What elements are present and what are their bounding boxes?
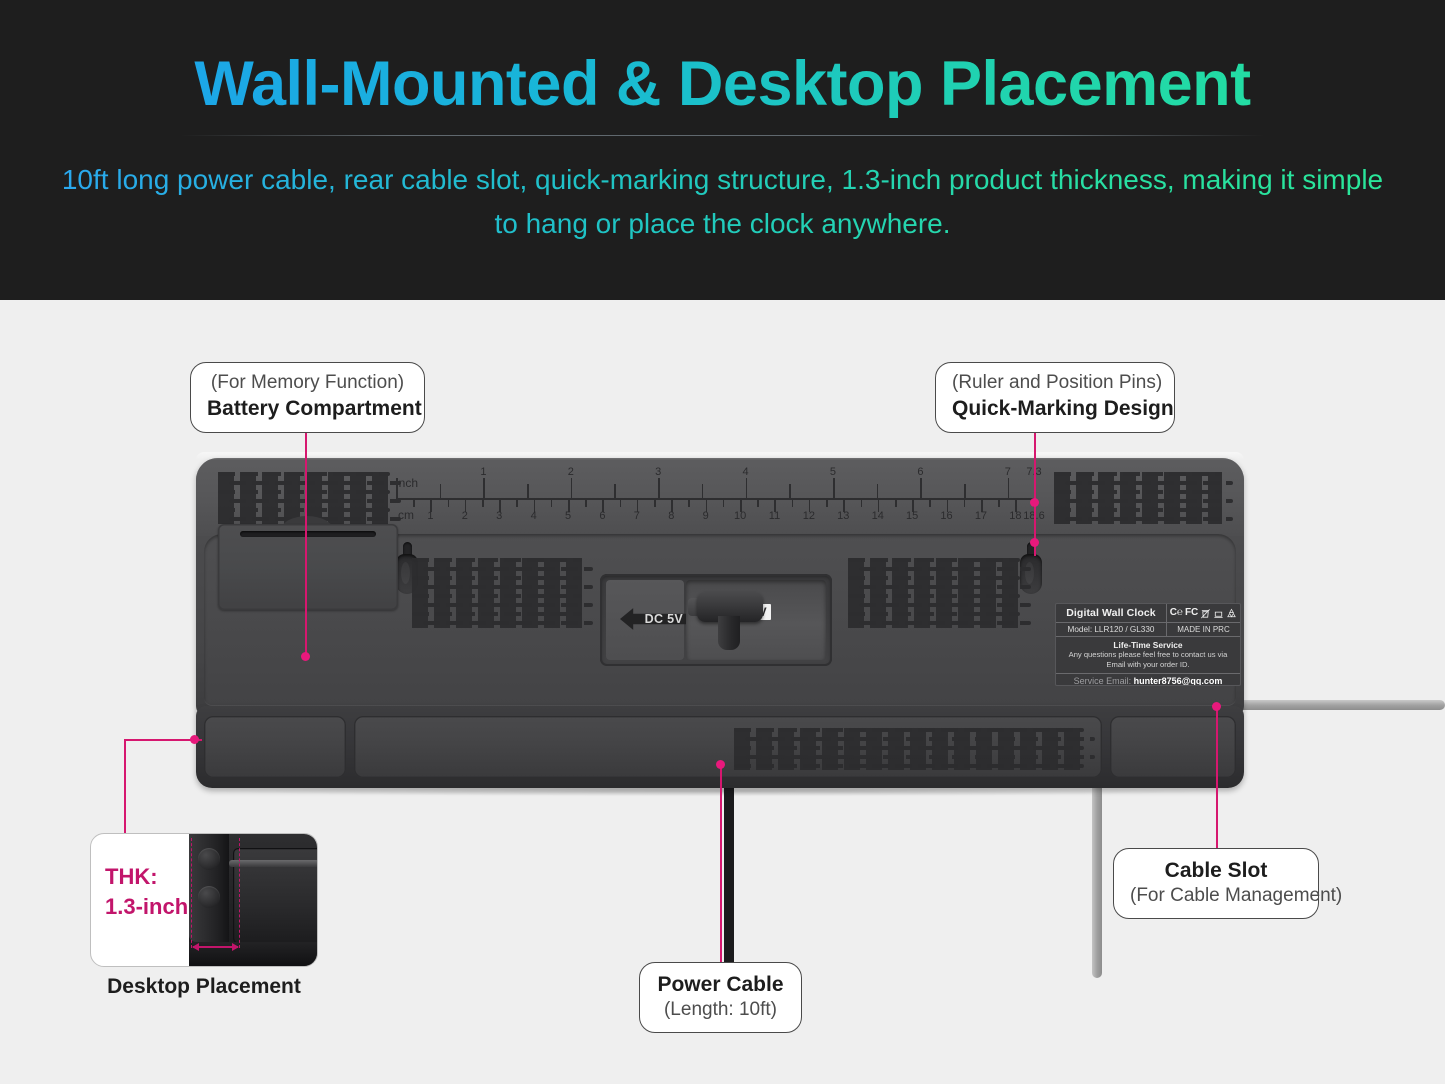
callout-battery-sub: (For Memory Function) (207, 371, 408, 395)
label-origin: MADE IN PRC (1166, 623, 1240, 636)
thickness-label-line2: 1.3-inch (105, 892, 188, 922)
ruler-zero-tick (396, 478, 398, 498)
device-top-lip (229, 860, 318, 867)
ruler-cm-label: 15 (906, 510, 918, 522)
ruler-cm-tick (482, 499, 484, 507)
ruler-cm-label: 11 (769, 510, 780, 522)
ruler-cm-tick (688, 499, 690, 507)
ruler-inch-tick (877, 484, 879, 498)
port-left-pad: DC 5V (606, 580, 684, 660)
ruler-cm-label: 10 (734, 510, 746, 522)
leader-dot-thickness (190, 735, 199, 744)
ruler-cm-label: 6 (599, 510, 605, 522)
ruler-cm-label: 12 (803, 510, 815, 522)
label-product-name: Digital Wall Clock (1056, 604, 1166, 622)
ruler-inch-tick-major (833, 478, 835, 498)
side-button-top (198, 848, 220, 870)
leader-power-cable (720, 764, 722, 962)
ruler-inch-tick-major (483, 478, 485, 498)
ruler-cm-label: 13 (837, 510, 849, 522)
ruler-inch-label: 3 (655, 466, 661, 478)
ruler-inch-tick (702, 484, 704, 498)
leader-battery (305, 426, 307, 658)
ruler-unit-inch: inch (396, 476, 418, 490)
ruler-inch-tick (614, 484, 616, 498)
product-info-label: Digital Wall Clock C℮ FC (1055, 603, 1241, 686)
callout-quickmark-sub: (Ruler and Position Pins) (952, 371, 1158, 395)
ruler-inch-tick-major (920, 478, 922, 498)
leader-cable-slot (1216, 706, 1218, 848)
label-row-title: Digital Wall Clock C℮ FC (1056, 604, 1240, 623)
callout-powercable-sub: (Length: 10ft) (656, 998, 785, 1022)
desktop-placement-caption: Desktop Placement (90, 975, 318, 999)
ruler-cm-label: 5 (565, 510, 571, 522)
ruler-cm-tick (585, 499, 587, 507)
ruler-inch-tick-major (746, 478, 748, 498)
rear-cable-horizontal (1236, 700, 1445, 710)
ruler-inch-tick-major (571, 478, 573, 498)
ruler-cm-tick (964, 499, 966, 507)
ruler-cm-tick (861, 499, 863, 507)
weee-crossed-bin-icon (1200, 608, 1211, 619)
thickness-value: THK: 1.3-inch (105, 862, 188, 922)
dimension-arrow (193, 946, 238, 948)
battery-compartment-door[interactable] (218, 524, 398, 610)
plug-neck (718, 616, 740, 650)
dc-5v-text: DC 5V (645, 612, 683, 626)
thickness-label-line1: THK: (105, 862, 188, 892)
dimension-line-left (191, 838, 192, 948)
page-title: Wall-Mounted & Desktop Placement (0, 48, 1445, 120)
ruler-unit-cm: cm (398, 508, 414, 522)
ruler-inch-tick (964, 484, 966, 498)
ruler-cm-label: 9 (703, 510, 709, 522)
leader-thickness (124, 739, 126, 835)
callout-cableslot-sub: (For Cable Management) (1130, 884, 1302, 908)
title-divider (180, 135, 1265, 136)
callout-battery-compartment: (For Memory Function) Battery Compartmen… (190, 362, 425, 433)
ce-icon: C℮ (1170, 608, 1183, 618)
label-row-service: Life-Time Service Any questions please f… (1056, 637, 1240, 674)
ruler-cm-tick (448, 499, 450, 507)
ruler-inch-tick (527, 484, 529, 498)
ruler-inch-label: 4 (743, 466, 749, 478)
base-segment-left (204, 716, 346, 778)
speaker-grille-mid-left (412, 558, 582, 628)
ruler-cm-label: 8 (668, 510, 674, 522)
ruler-inch-tick (440, 484, 442, 498)
header-banner: Wall-Mounted & Desktop Placement 10ft lo… (0, 0, 1445, 300)
ruler-cm-tick (757, 499, 759, 507)
ruler-inch-tick-major (658, 478, 660, 498)
label-email-key: Service Email: (1074, 676, 1132, 686)
ruler-cm-label: 16 (940, 510, 952, 522)
ruler-cm-label: 2 (462, 510, 468, 522)
base-segment-center (354, 716, 1102, 778)
ruler-cm-tick (895, 499, 897, 507)
ruler-cm-tick (551, 499, 553, 507)
dc-power-port-recess: DC 5V 5V (600, 574, 832, 666)
label-service-text: Any questions please feel free to contac… (1056, 650, 1240, 673)
recycle-icon (1226, 608, 1237, 619)
ruler-inch-label: 5 (830, 466, 836, 478)
speaker-grille-base (734, 728, 1084, 770)
leader-dot-quickmark-ruler (1030, 498, 1039, 507)
leader-dot-quickmark-pin (1030, 538, 1039, 547)
ruler-cm-tick (723, 499, 725, 507)
ruler-axis (396, 498, 1036, 500)
speaker-grille-mid-right (848, 558, 1020, 628)
rohs-icon (1213, 608, 1224, 619)
ruler-inch-label: 7 (1005, 466, 1011, 478)
ruler-inch-label: 6 (917, 466, 923, 478)
thickness-inset-card: THK: 1.3-inch (90, 833, 318, 967)
callout-cableslot-title: Cable Slot (1130, 857, 1302, 884)
ruler-cm-tick (620, 499, 622, 507)
ruler-cm-label: 14 (872, 510, 884, 522)
callout-quickmark-title: Quick-Marking Design (952, 395, 1158, 422)
label-model-number: Model: LLR120 / GL330 (1056, 623, 1166, 636)
keyhole-highlight-left (401, 562, 410, 584)
ruler-inch-tick (789, 484, 791, 498)
ruler-cm-tick (929, 499, 931, 507)
ruler-cm-label: 4 (531, 510, 537, 522)
callout-quick-marking: (Ruler and Position Pins) Quick-Marking … (935, 362, 1175, 433)
ruler-inch-label: 2 (568, 466, 574, 478)
ruler-cm-tick (998, 499, 1000, 507)
ruler-cm-tick (792, 499, 794, 507)
clock-rear-view: inch cm 12345677.31234567891011121314151… (196, 458, 1244, 716)
ruler-cm-label: 17 (975, 510, 987, 522)
ruler-inch-tick-major (1008, 478, 1010, 498)
speaker-grille-top-right (1054, 472, 1222, 524)
leader-dot-battery (301, 652, 310, 661)
ruler-cm-tick (413, 499, 415, 507)
callout-cable-slot: Cable Slot (For Cable Management) (1113, 848, 1319, 919)
label-email: Service Email: hunter8756@qq.com (1056, 674, 1240, 686)
ruler-cm-label: 1 (427, 510, 433, 522)
label-email-value: hunter8756@qq.com (1134, 676, 1223, 686)
leader-dot-power-cable (716, 760, 725, 769)
dimension-line-right (239, 838, 240, 948)
ruler-cm-tick (826, 499, 828, 507)
ruler-inch-label: 1 (480, 466, 486, 478)
keyhole-highlight-right (1025, 562, 1034, 584)
fcc-icon: FC (1185, 608, 1198, 618)
ruler-cm-label: 3 (496, 510, 502, 522)
page-subtitle: 10ft long power cable, rear cable slot, … (60, 158, 1385, 246)
leader-dot-cable-slot (1212, 702, 1221, 711)
callout-powercable-title: Power Cable (656, 971, 785, 998)
battery-door-notch (240, 531, 376, 537)
ruler-cm-label: 7 (634, 510, 640, 522)
ruler-scale: inch cm 12345677.31234567891011121314151… (396, 470, 1036, 528)
ruler-cm-tick (516, 499, 518, 507)
label-row-email: Service Email: hunter8756@qq.com (1056, 674, 1240, 686)
side-button-bottom (198, 886, 220, 908)
callout-battery-title: Battery Compartment (207, 395, 408, 422)
certification-icons: C℮ FC (1166, 604, 1240, 622)
ruler-cm-tick (654, 499, 656, 507)
label-row-model: Model: LLR120 / GL330 MADE IN PRC (1056, 623, 1240, 637)
dc-5v-arrow-label: DC 5V (620, 606, 686, 632)
leader-quickmark (1034, 426, 1036, 556)
ruler-cm-label: 18 (1009, 510, 1021, 522)
callout-power-cable: Power Cable (Length: 10ft) (639, 962, 802, 1033)
label-service-title: Life-Time Service (1056, 637, 1240, 650)
